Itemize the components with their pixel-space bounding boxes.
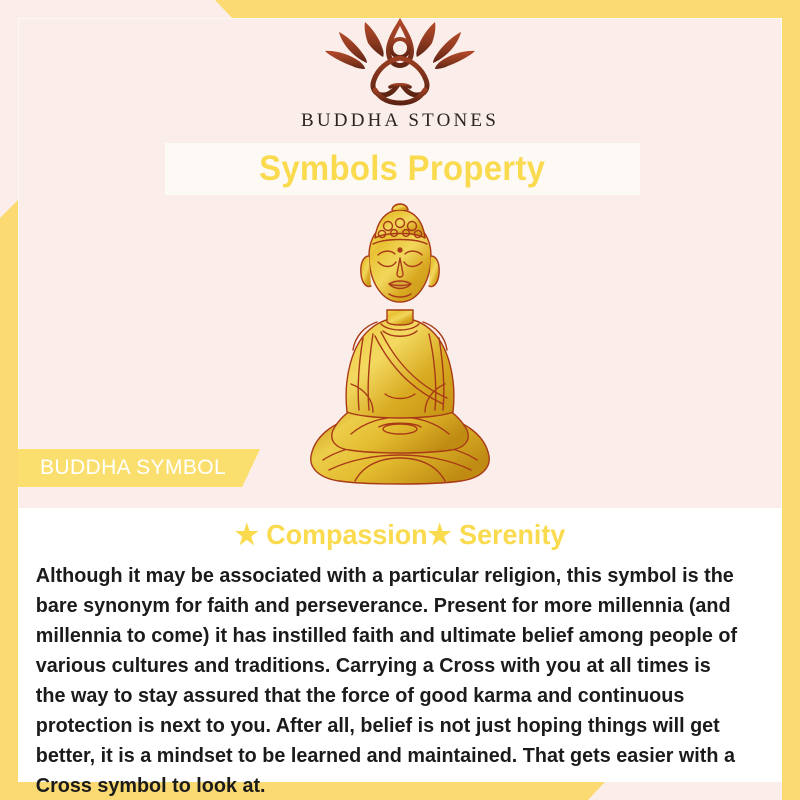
brand-name: BUDDHA STONES bbox=[301, 110, 499, 132]
golden-buddha-statue-meditating bbox=[293, 198, 507, 494]
section-tag-label: BUDDHA SYMBOL bbox=[40, 456, 226, 480]
content-card: ★ Compassion★ Serenity Although it may b… bbox=[18, 508, 782, 782]
content-headline: ★ Compassion★ Serenity bbox=[45, 518, 755, 551]
section-tag-buddha-symbol: BUDDHA SYMBOL bbox=[18, 449, 260, 487]
brand-block: BUDDHA STONES bbox=[0, 14, 800, 132]
lotus-meditation-figure-icon bbox=[311, 14, 489, 106]
content-body-text: Although it may be associated with a par… bbox=[30, 561, 744, 800]
poster-canvas: BUDDHA STONES Symbols Property bbox=[0, 0, 800, 800]
page-title: Symbols Property bbox=[259, 149, 545, 189]
title-banner: Symbols Property bbox=[165, 143, 640, 195]
